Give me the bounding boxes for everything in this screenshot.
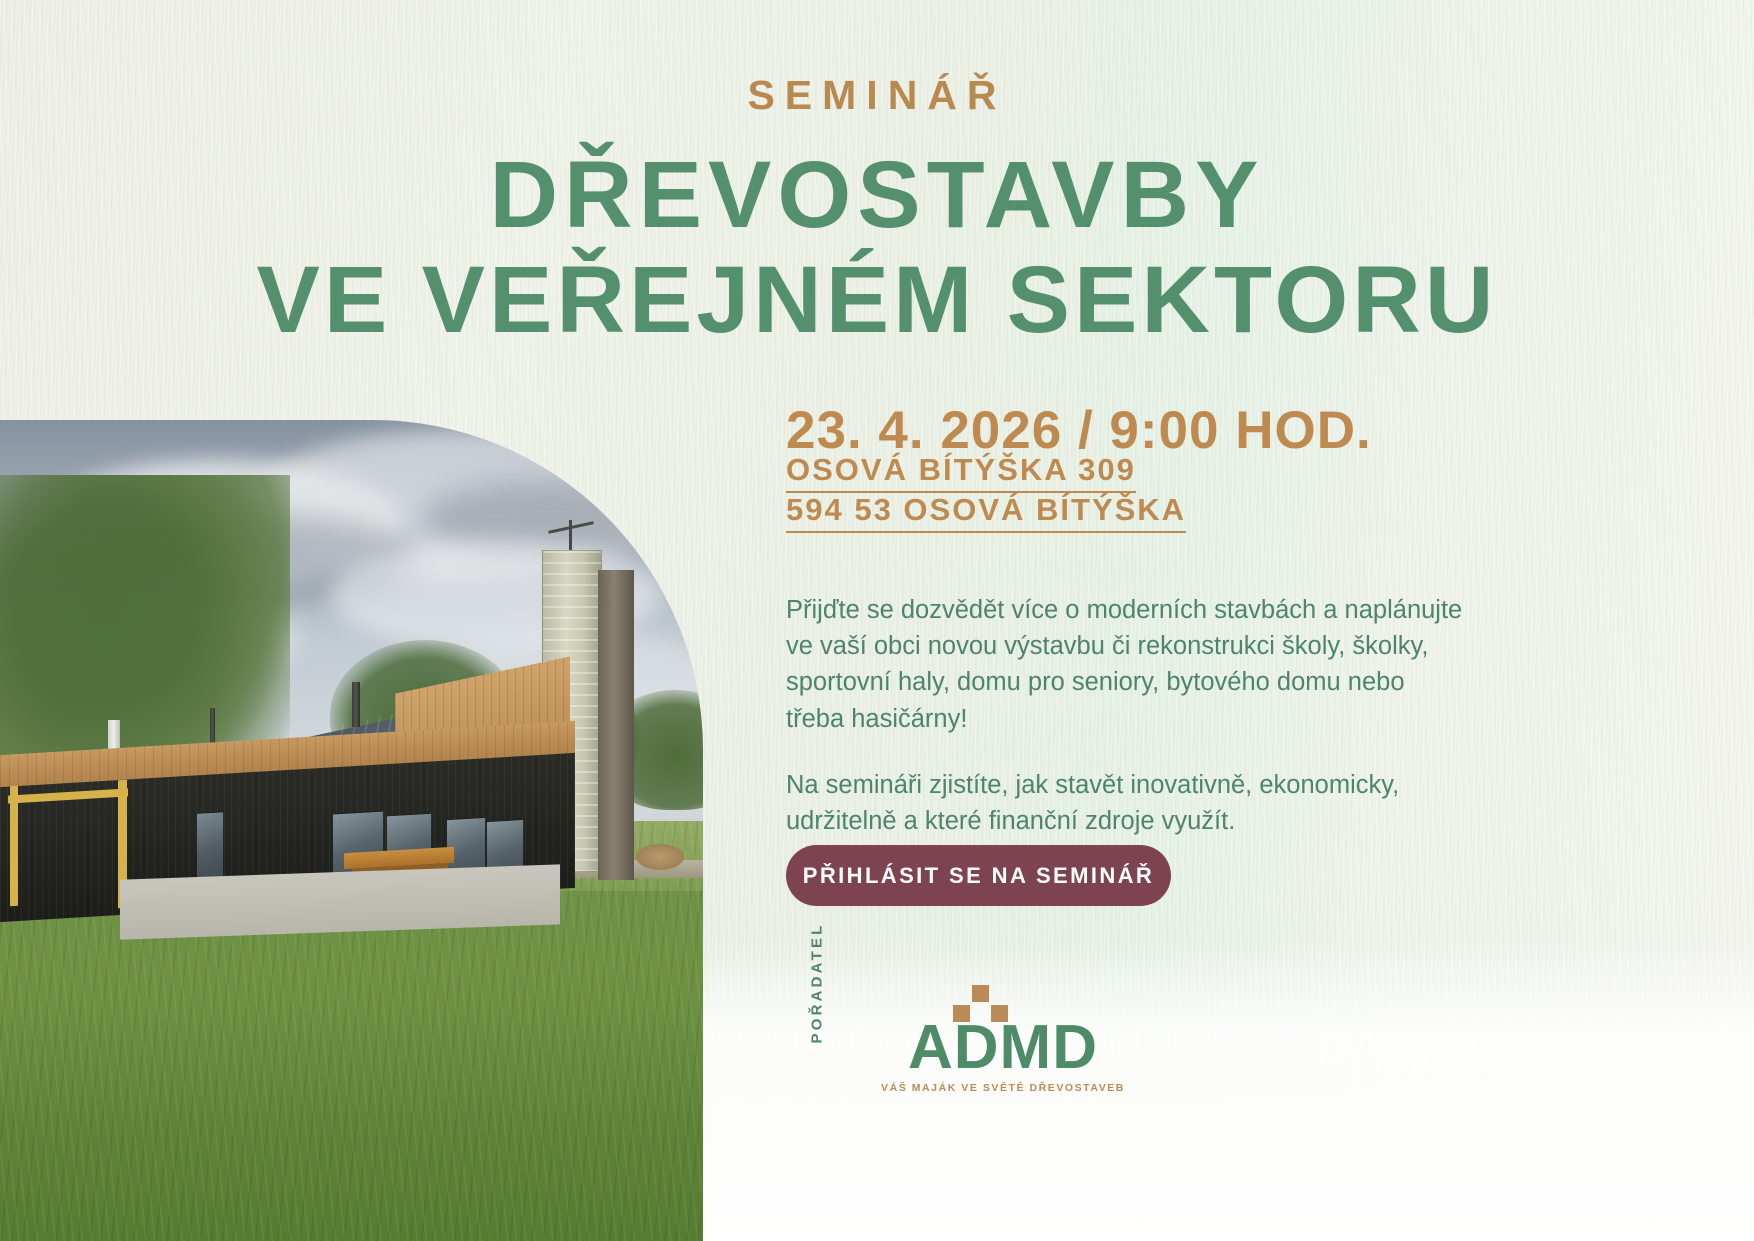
logo-wordmark: ADMD — [868, 1019, 1138, 1076]
admd-logo: ADMD VÁŠ MAJÁK VE SVĚTĚ DŘEVOSTAVEB — [868, 985, 1138, 1094]
venue-photo — [0, 420, 703, 1241]
yellow-column — [10, 786, 18, 906]
headline-line-1: DŘEVOSTAVBY — [0, 148, 1754, 243]
building-chimney — [598, 570, 634, 880]
logo-square-left — [953, 1005, 970, 1022]
roof-pipe — [352, 682, 360, 727]
page-title: DŘEVOSTAVBY VE VEŘEJNÉM SEKTORU — [0, 148, 1754, 348]
distant-bush — [636, 844, 684, 870]
headline-line-2: VE VEŘEJNÉM SEKTORU — [0, 253, 1754, 348]
roof-pipe — [210, 708, 215, 743]
event-description: Přijďte se dozvědět více o moderních sta… — [786, 592, 1466, 839]
background-white-panel — [700, 941, 1754, 1241]
description-paragraph-2: Na semináři zjistíte, jak stavět inovati… — [786, 767, 1466, 839]
weather-vane-icon — [548, 520, 594, 554]
kicker-seminar: SEMINÁŘ — [0, 72, 1754, 119]
logo-tagline: VÁŠ MAJÁK VE SVĚTĚ DŘEVOSTAVEB — [868, 1082, 1138, 1094]
logo-square-right — [991, 1005, 1008, 1022]
poster-canvas: SEMINÁŘ DŘEVOSTAVBY VE VEŘEJNÉM SEKTORU — [0, 0, 1754, 1241]
register-button[interactable]: PŘIHLÁSIT SE NA SEMINÁŘ — [786, 845, 1171, 906]
logo-squares-icon — [946, 985, 1016, 1019]
organizer-label: POŘADATEL — [809, 934, 826, 1044]
description-paragraph-1: Přijďte se dozvědět více o moderních sta… — [786, 592, 1466, 737]
logo-square-top — [972, 985, 989, 1002]
event-address-line-1: OSOVÁ BÍTÝŠKA 309 — [786, 452, 1136, 493]
event-address-line-2: 594 53 OSOVÁ BÍTÝŠKA — [786, 492, 1186, 533]
